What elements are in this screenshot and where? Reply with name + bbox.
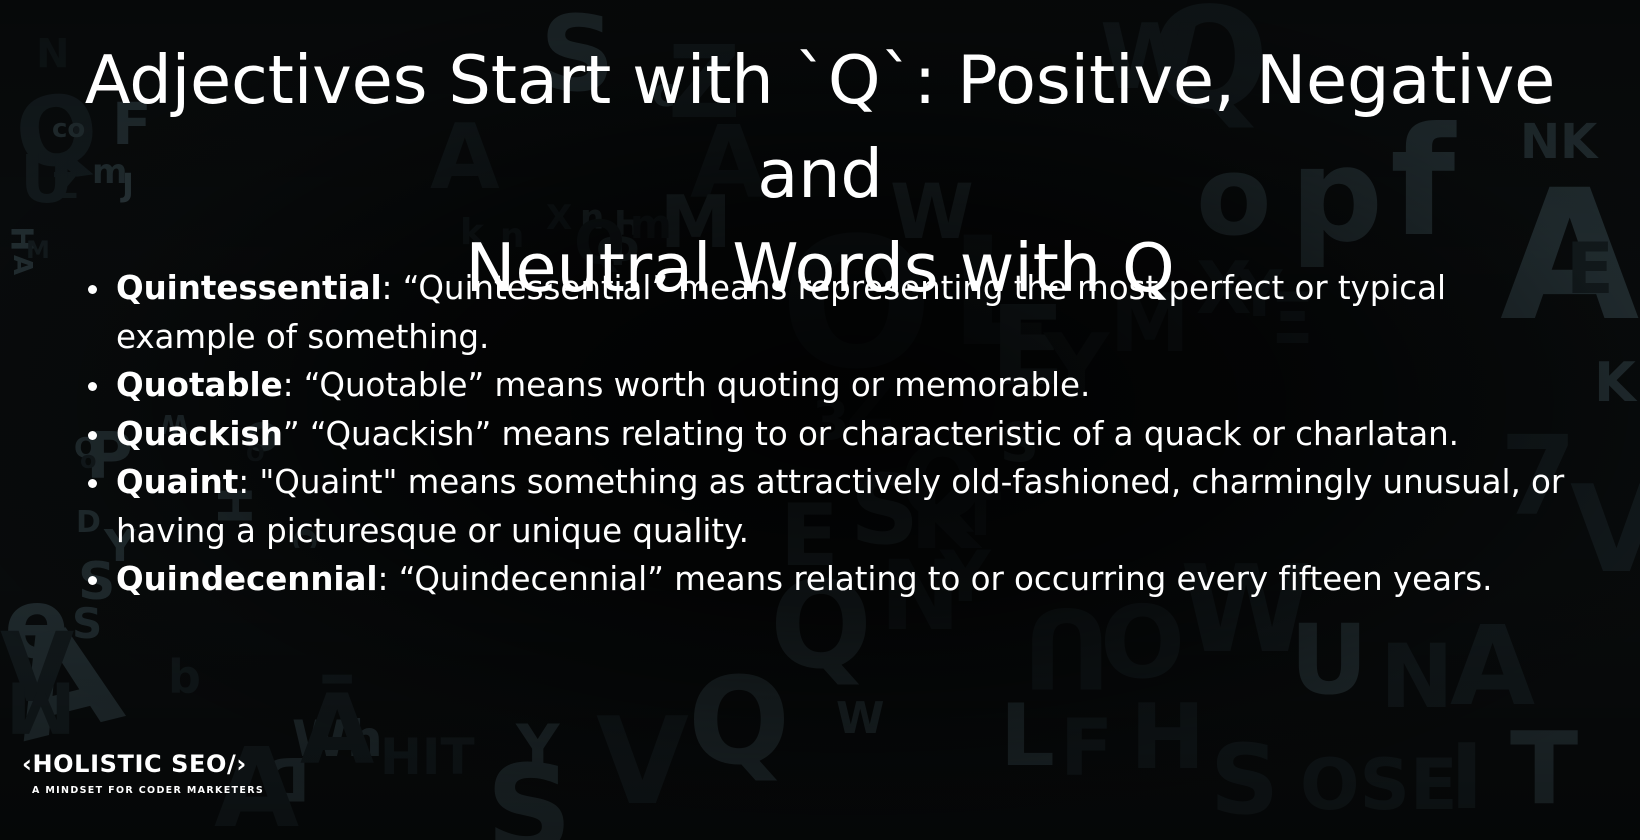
adjective-separator: : [382,269,403,307]
list-item: Quintessential: “Quintessential” means r… [58,264,1582,361]
adjective-separator: : [283,366,304,404]
adjective-separator: : [238,463,259,501]
list-item: Quindecennial: “Quindecennial” means rel… [58,555,1582,604]
adjective-term: Quackish [116,415,283,453]
logo-tagline: A MINDSET FOR CODER MARKETERS [22,786,264,796]
adjective-separator: : [378,560,399,598]
adjective-definition: "Quaint" means something as attractively… [116,463,1564,550]
logo-wordmark: ‹HOLISTIC SEO/› [22,752,264,776]
list-item: Quotable: “Quotable” means worth quoting… [58,361,1582,410]
slide-content: Quintessential: “Quintessential” means r… [58,264,1582,604]
page-title-line-1: Adjectives Start with `Q`: Positive, Neg… [85,41,1555,213]
adjective-separator: ” [283,415,310,453]
adjective-term: Quindecennial [116,560,378,598]
list-item: Quackish” “Quackish” means relating to o… [58,410,1582,459]
adjective-definition: “Quindecennial” means relating to or occ… [399,560,1493,598]
presentation-slide: QFNcoZUmJHAMPWDYSOoHoOCeSAVbDAMWhĀYVSHIT… [0,0,1640,840]
list-item: Quaint: "Quaint" means something as attr… [58,458,1582,555]
brand-logo[interactable]: ‹HOLISTIC SEO/› A MINDSET FOR CODER MARK… [22,752,264,796]
adjective-term: Quintessential [116,269,382,307]
adjective-term: Quaint [116,463,238,501]
adjective-term: Quotable [116,366,283,404]
adjective-definition: “Quotable” means worth quoting or memora… [304,366,1090,404]
adjective-bullet-list: Quintessential: “Quintessential” means r… [58,264,1582,604]
adjective-definition: “Quackish” means relating to or characte… [310,415,1459,453]
